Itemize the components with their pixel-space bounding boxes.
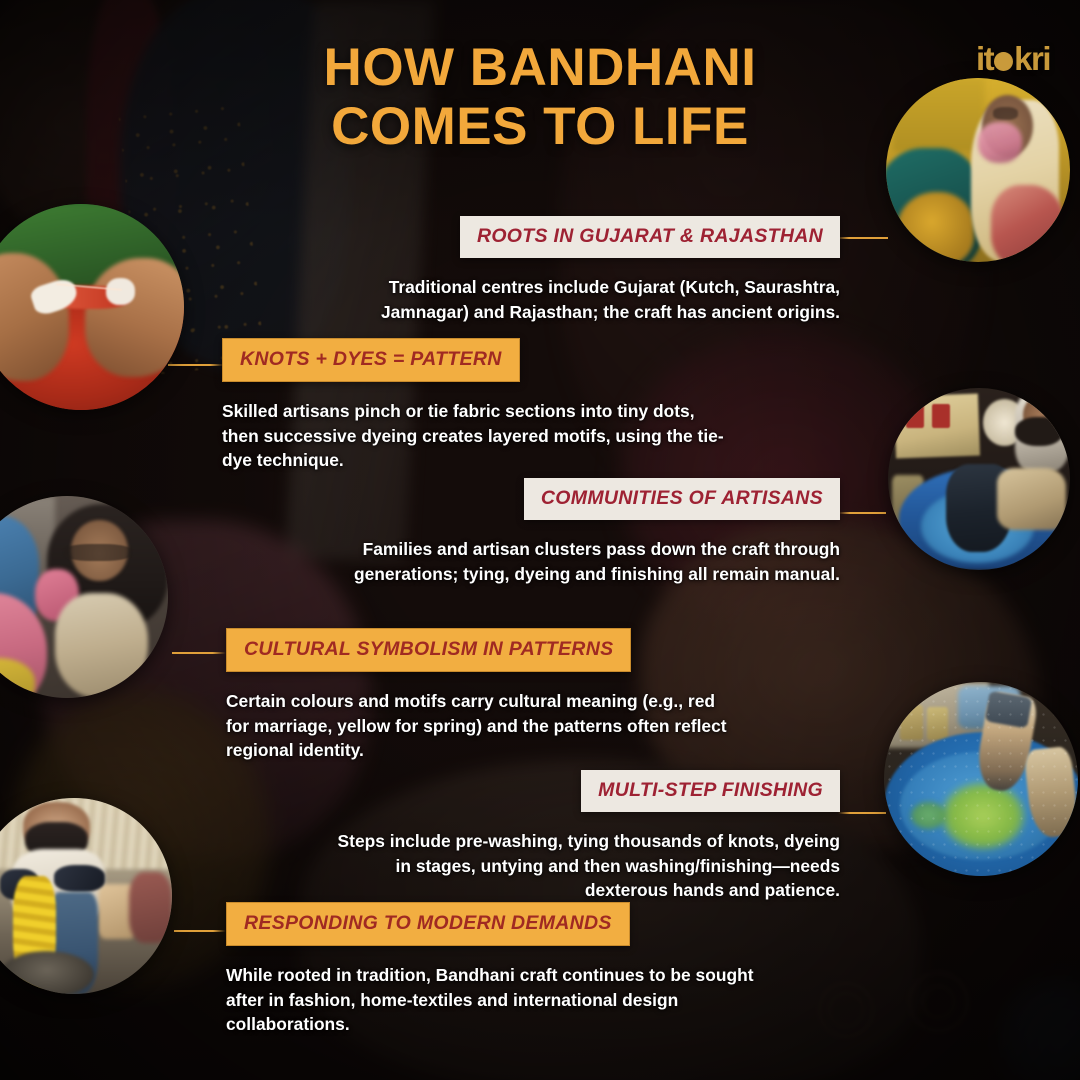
- section-heading-6[interactable]: RESPONDING TO MODERN DEMANDS: [226, 902, 630, 946]
- page-title: HOW BANDHANI COMES TO LIFE: [0, 38, 1080, 157]
- photo-artisan-dipping-fabric-blue-dye[interactable]: [888, 388, 1070, 570]
- logo-text-mid: k: [1014, 40, 1031, 77]
- logo-text-pre: it: [976, 40, 993, 77]
- section-heading-2[interactable]: KNOTS + DYES = PATTERN: [222, 338, 520, 382]
- section-body-5: Steps include pre-washing, tying thousan…: [330, 829, 840, 903]
- photo-dyer-lifting-yellow-fabric[interactable]: [0, 798, 172, 994]
- connector-line-1: [836, 237, 888, 239]
- photo-woman-tying-bandhani-outdoors[interactable]: [0, 496, 168, 698]
- photo-image-4: [888, 388, 1070, 570]
- section-body-2: Skilled artisans pinch or tie fabric sec…: [222, 399, 732, 473]
- photo-image-2: [0, 204, 184, 410]
- logo-dot-icon: [994, 52, 1013, 71]
- section-heading-5[interactable]: MULTI-STEP FINISHING: [581, 770, 840, 812]
- section-roots-in-gujarat-rajasthan: ROOTS IN GUJARAT & RAJASTHAN Traditional…: [330, 216, 840, 324]
- section-heading-1[interactable]: ROOTS IN GUJARAT & RAJASTHAN: [460, 216, 840, 258]
- logo-text-post: ri: [1031, 40, 1050, 77]
- section-body-1: Traditional centres include Gujarat (Kut…: [330, 275, 840, 324]
- photo-blue-dye-vat-with-bundles[interactable]: [884, 682, 1078, 876]
- connector-line-4: [172, 652, 226, 654]
- photo-image-6: [884, 682, 1078, 876]
- photo-image-3: [0, 496, 168, 698]
- photo-hands-tying-red-fabric[interactable]: [0, 204, 184, 410]
- itokri-logo[interactable]: itkri: [976, 40, 1050, 78]
- section-knots-dyes-pattern: KNOTS + DYES = PATTERN Skilled artisans …: [222, 338, 732, 473]
- page-title-line-2: COMES TO LIFE: [0, 97, 1080, 156]
- section-heading-4[interactable]: CULTURAL SYMBOLISM IN PATTERNS: [226, 628, 631, 672]
- section-heading-3[interactable]: COMMUNITIES OF ARTISANS: [524, 478, 840, 520]
- section-body-4: Certain colours and motifs carry cultura…: [226, 689, 736, 763]
- section-communities-of-artisans: COMMUNITIES OF ARTISANS Families and art…: [330, 478, 840, 586]
- section-responding-to-modern-demands: RESPONDING TO MODERN DEMANDS While roote…: [226, 902, 776, 1037]
- photo-image-5: [0, 798, 172, 994]
- section-cultural-symbolism-in-patterns: CULTURAL SYMBOLISM IN PATTERNS Certain c…: [226, 628, 736, 763]
- section-body-3: Families and artisan clusters pass down …: [330, 537, 840, 586]
- page-title-line-1: HOW BANDHANI: [324, 38, 757, 97]
- section-body-6: While rooted in tradition, Bandhani craf…: [226, 963, 776, 1037]
- section-multi-step-finishing: MULTI-STEP FINISHING Steps include pre-w…: [330, 770, 840, 903]
